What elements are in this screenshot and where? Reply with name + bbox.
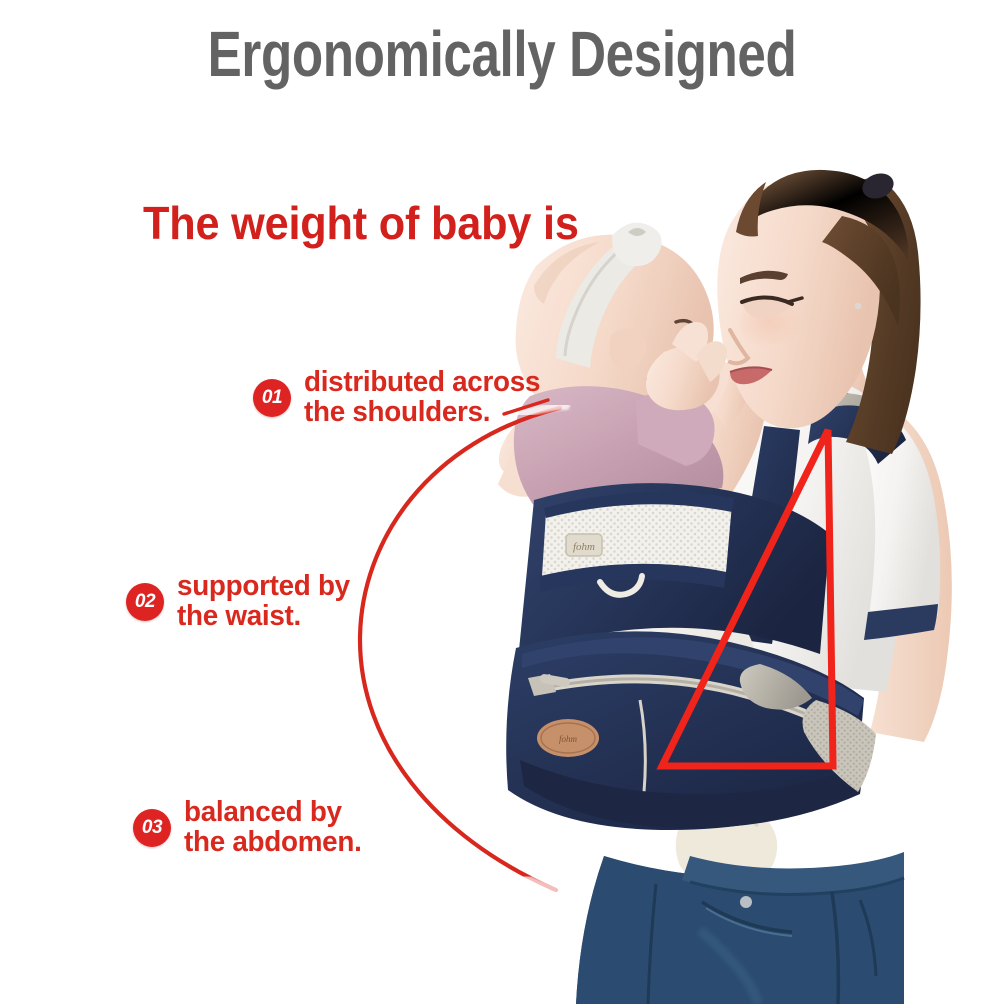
subtitle: The weight of baby is — [143, 200, 579, 246]
callout-02: 02 supported by the waist. — [126, 572, 357, 631]
callout-02-text: supported by the waist. — [177, 572, 350, 631]
jeans — [576, 852, 904, 1004]
callout-03-text: balanced by the abdomen. — [184, 798, 362, 857]
svg-text:fohm: fohm — [559, 734, 578, 744]
callout-03: 03 balanced by the abdomen. — [133, 798, 369, 857]
page-title: Ergonomically Designed — [100, 22, 903, 86]
callout-01: 01 distributed across the shoulders. — [253, 368, 550, 427]
callout-03-badge: 03 — [133, 809, 171, 847]
svg-text:fohm: fohm — [573, 541, 595, 553]
callout-02-badge: 02 — [126, 583, 164, 621]
infographic-canvas: fohm fohm — [0, 0, 1004, 1004]
callout-01-text: distributed across the shoulders. — [304, 368, 540, 427]
callout-01-badge: 01 — [253, 379, 291, 417]
